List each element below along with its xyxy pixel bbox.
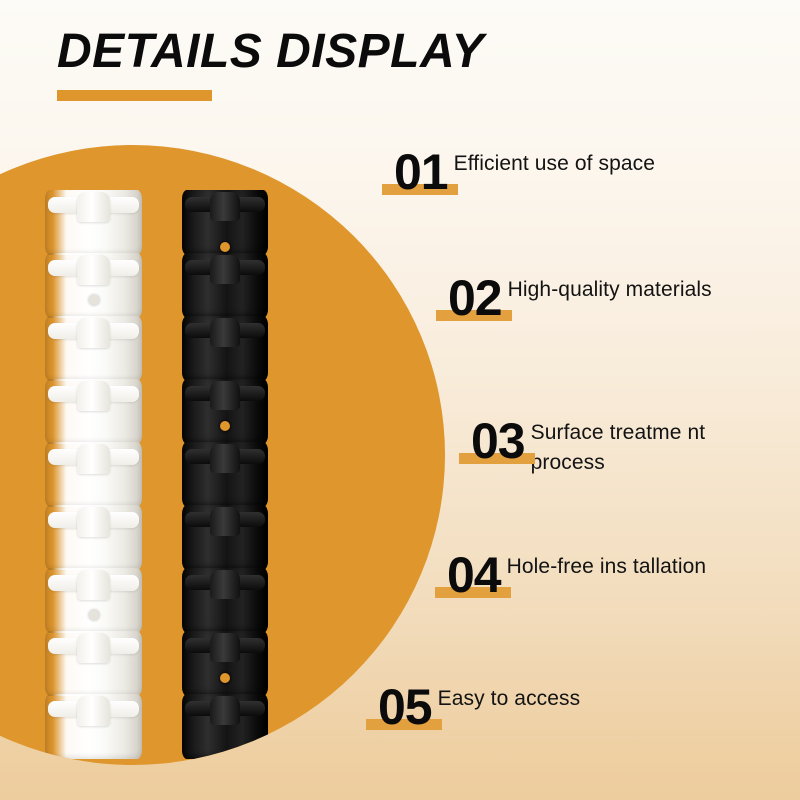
feature-number-wrap: 02: [448, 272, 508, 324]
product-circle-backdrop: [0, 145, 445, 765]
feature-item-04: 04 Hole-free ins tallation: [447, 549, 706, 601]
clip-segment: [182, 694, 268, 759]
clip-segment: [45, 253, 142, 318]
clip-segment: [45, 568, 142, 633]
feature-label: High-quality materials: [508, 272, 712, 305]
clip-hole: [89, 610, 99, 620]
feature-number-wrap: 01: [394, 146, 454, 198]
feature-item-03: 03 Surface treatme nt process: [471, 415, 741, 478]
clip-segment: [182, 316, 268, 381]
clip-segment: [182, 505, 268, 570]
feature-number-wrap: 03: [471, 415, 531, 467]
feature-item-05: 05 Easy to access: [378, 681, 580, 733]
clip-segment: [45, 505, 142, 570]
title-underline-bar: [57, 90, 212, 101]
clip-hole: [220, 421, 230, 431]
clip-hole: [220, 673, 230, 683]
feature-number: 02: [448, 272, 502, 324]
details-display-poster: DETAILS DISPLAY: [0, 0, 800, 800]
feature-item-01: 01 Efficient use of space: [394, 146, 655, 198]
feature-label: Surface treatme nt process: [531, 415, 741, 478]
clip-segment: [182, 631, 268, 696]
feature-number: 05: [378, 681, 432, 733]
clip-segment: [45, 694, 142, 759]
feature-item-02: 02 High-quality materials: [448, 272, 712, 324]
clip-segment: [45, 379, 142, 444]
product-image: [0, 145, 445, 765]
white-clip-stack: [45, 190, 142, 710]
clip-hole: [89, 295, 99, 305]
page-title: DETAILS DISPLAY: [57, 26, 657, 79]
feature-label: Efficient use of space: [454, 146, 655, 179]
clip-segment: [182, 568, 268, 633]
feature-label: Hole-free ins tallation: [507, 549, 707, 582]
feature-number: 03: [471, 415, 525, 467]
page-title-block: DETAILS DISPLAY: [57, 26, 657, 79]
clip-segment: [45, 442, 142, 507]
clip-segment: [182, 253, 268, 318]
clip-hole: [220, 242, 230, 252]
clip-segment: [182, 379, 268, 444]
feature-number-wrap: 04: [447, 549, 507, 601]
feature-number: 01: [394, 146, 448, 198]
clip-segment: [182, 442, 268, 507]
clip-segment: [45, 316, 142, 381]
clip-segment: [45, 631, 142, 696]
clip-segment: [45, 190, 142, 255]
black-clip-stack: [182, 190, 268, 718]
feature-number-wrap: 05: [378, 681, 438, 733]
feature-label: Easy to access: [438, 681, 581, 714]
feature-number: 04: [447, 549, 501, 601]
